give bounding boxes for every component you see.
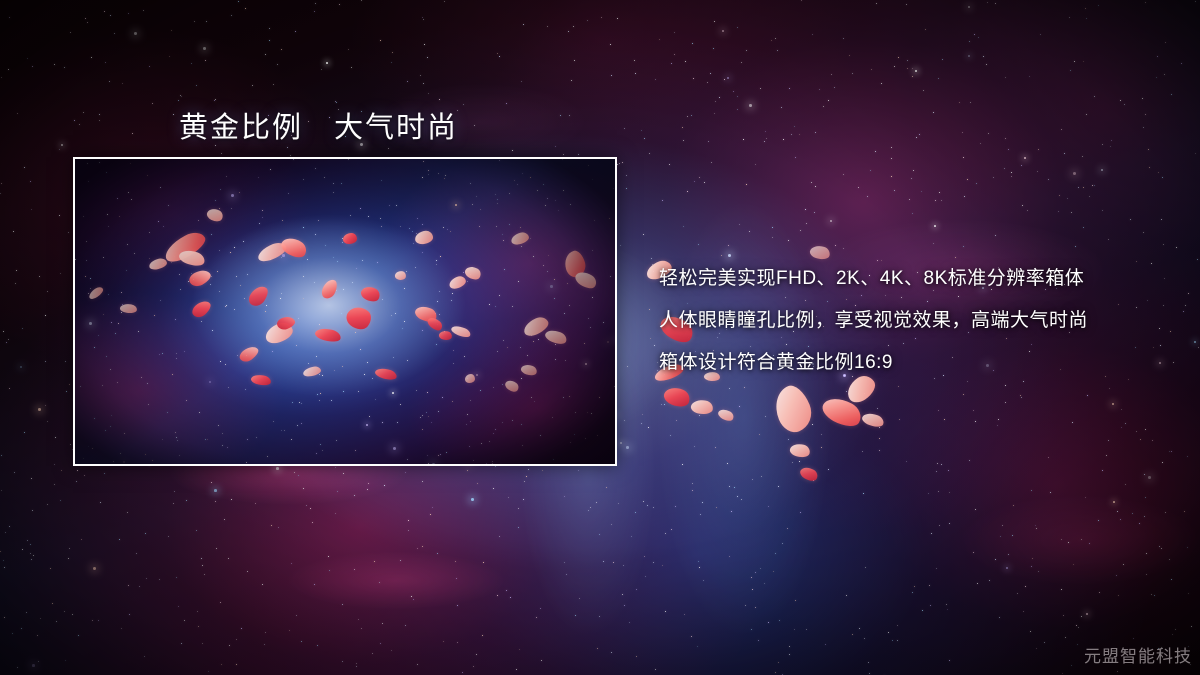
star bbox=[1161, 219, 1162, 220]
star bbox=[417, 548, 418, 549]
star bbox=[722, 30, 724, 32]
star bbox=[564, 562, 565, 563]
star bbox=[127, 512, 128, 513]
star bbox=[1120, 519, 1121, 520]
star bbox=[749, 231, 750, 232]
star bbox=[296, 615, 297, 616]
star bbox=[752, 589, 753, 590]
star bbox=[476, 374, 478, 376]
star bbox=[1132, 513, 1133, 514]
star bbox=[455, 204, 457, 206]
star bbox=[220, 189, 221, 190]
feature-line-2: 人体眼睛瞳孔比例，享受视觉效果，高端大气时尚 bbox=[659, 300, 1179, 342]
star bbox=[493, 387, 494, 388]
star bbox=[107, 214, 108, 215]
star bbox=[499, 536, 500, 537]
flower-petal bbox=[187, 267, 213, 290]
star bbox=[428, 416, 429, 417]
star bbox=[591, 413, 592, 414]
star bbox=[1140, 439, 1141, 440]
star bbox=[516, 669, 517, 670]
star bbox=[729, 486, 730, 487]
star bbox=[1144, 474, 1145, 475]
star bbox=[331, 400, 332, 401]
star bbox=[692, 43, 693, 44]
star bbox=[618, 503, 619, 504]
star bbox=[898, 57, 899, 58]
star bbox=[361, 0, 362, 1]
star bbox=[657, 362, 658, 363]
star bbox=[823, 106, 824, 107]
star bbox=[354, 569, 355, 570]
star bbox=[467, 281, 468, 282]
star bbox=[729, 388, 730, 389]
star bbox=[408, 520, 409, 521]
star bbox=[201, 321, 202, 322]
star bbox=[372, 378, 373, 379]
star bbox=[553, 459, 554, 460]
star bbox=[894, 190, 895, 191]
star bbox=[191, 273, 192, 274]
flower-petal bbox=[798, 464, 820, 483]
star bbox=[906, 461, 907, 462]
star bbox=[303, 298, 304, 299]
star bbox=[446, 452, 447, 453]
star bbox=[778, 486, 779, 487]
star bbox=[1162, 177, 1163, 178]
star bbox=[789, 646, 790, 647]
star bbox=[244, 298, 245, 299]
star bbox=[821, 447, 822, 448]
star bbox=[285, 246, 286, 247]
star bbox=[671, 529, 672, 530]
star bbox=[714, 21, 715, 22]
star bbox=[1089, 543, 1090, 544]
star bbox=[1094, 185, 1095, 186]
star bbox=[925, 29, 926, 30]
star bbox=[1194, 341, 1196, 343]
star bbox=[934, 225, 936, 227]
star bbox=[262, 584, 263, 585]
star bbox=[352, 282, 353, 283]
star bbox=[345, 241, 346, 242]
star bbox=[801, 0, 802, 1]
star bbox=[707, 82, 708, 83]
star bbox=[351, 67, 352, 68]
star bbox=[471, 498, 474, 501]
star bbox=[201, 558, 202, 559]
star bbox=[1108, 239, 1109, 240]
star bbox=[963, 246, 964, 247]
star bbox=[913, 170, 914, 171]
star bbox=[894, 66, 895, 67]
star bbox=[457, 605, 458, 606]
star bbox=[315, 3, 316, 4]
star bbox=[692, 490, 693, 491]
star bbox=[469, 446, 470, 447]
star bbox=[911, 178, 912, 179]
star bbox=[26, 612, 27, 613]
star bbox=[912, 76, 913, 77]
star bbox=[936, 471, 937, 472]
star bbox=[912, 592, 913, 593]
star bbox=[284, 430, 285, 431]
flower-petal bbox=[343, 302, 375, 334]
star bbox=[1094, 96, 1095, 97]
flower-petal bbox=[148, 257, 168, 271]
star bbox=[1117, 671, 1118, 672]
star bbox=[174, 491, 175, 492]
flower-petal bbox=[278, 234, 309, 262]
star bbox=[489, 304, 490, 305]
star bbox=[692, 483, 693, 484]
star bbox=[168, 205, 169, 206]
star bbox=[342, 238, 343, 239]
star bbox=[499, 160, 500, 161]
star bbox=[520, 347, 521, 348]
star bbox=[247, 571, 248, 572]
star bbox=[391, 62, 392, 63]
star bbox=[333, 183, 334, 184]
star bbox=[1040, 34, 1041, 35]
flower-petal bbox=[662, 384, 693, 410]
star bbox=[320, 393, 321, 394]
star bbox=[293, 159, 294, 160]
star bbox=[38, 661, 39, 662]
star bbox=[567, 283, 568, 284]
star bbox=[995, 559, 996, 560]
star bbox=[993, 177, 994, 178]
star bbox=[1133, 638, 1134, 639]
star bbox=[969, 460, 970, 461]
star bbox=[662, 200, 663, 201]
star bbox=[104, 11, 105, 12]
star bbox=[417, 664, 418, 665]
star bbox=[496, 226, 497, 227]
star bbox=[1106, 455, 1107, 456]
star bbox=[68, 232, 69, 233]
star bbox=[147, 175, 148, 176]
star bbox=[9, 526, 10, 527]
star bbox=[479, 226, 480, 227]
star bbox=[4, 567, 5, 568]
star bbox=[453, 363, 454, 364]
star bbox=[1171, 579, 1172, 580]
star bbox=[530, 238, 531, 239]
flower-petal bbox=[263, 320, 295, 346]
star bbox=[238, 1, 239, 2]
star bbox=[127, 244, 128, 245]
star bbox=[310, 508, 311, 509]
star bbox=[5, 532, 6, 533]
star bbox=[176, 577, 177, 578]
star bbox=[814, 212, 815, 213]
star bbox=[194, 21, 195, 22]
star bbox=[215, 200, 216, 201]
star bbox=[374, 561, 375, 562]
star bbox=[391, 650, 392, 651]
star bbox=[795, 600, 796, 601]
star bbox=[899, 419, 900, 420]
star bbox=[128, 13, 129, 14]
star bbox=[771, 40, 772, 41]
star bbox=[106, 356, 107, 357]
star bbox=[1183, 311, 1184, 312]
star bbox=[171, 30, 172, 31]
star bbox=[1021, 397, 1022, 398]
star bbox=[9, 388, 10, 389]
star bbox=[179, 455, 180, 456]
star bbox=[122, 83, 123, 84]
star bbox=[980, 143, 981, 144]
star bbox=[1145, 497, 1146, 498]
star bbox=[424, 44, 425, 45]
flower-petal bbox=[690, 398, 714, 416]
star bbox=[702, 502, 703, 503]
star bbox=[665, 611, 666, 612]
star bbox=[587, 412, 588, 413]
star bbox=[815, 186, 816, 187]
flower-petal bbox=[359, 284, 382, 305]
star bbox=[100, 502, 101, 503]
star bbox=[430, 514, 431, 515]
star bbox=[219, 250, 220, 251]
star bbox=[968, 6, 970, 8]
star bbox=[236, 664, 237, 665]
star bbox=[409, 228, 410, 229]
star bbox=[262, 217, 263, 218]
star bbox=[815, 132, 816, 133]
star bbox=[654, 345, 655, 346]
star bbox=[342, 366, 343, 367]
star bbox=[1111, 140, 1112, 141]
star bbox=[267, 456, 268, 457]
star bbox=[193, 279, 194, 280]
star bbox=[588, 165, 589, 166]
watermark-label: 元盟智能科技 bbox=[1084, 642, 1192, 667]
star bbox=[160, 187, 161, 188]
star bbox=[973, 410, 974, 411]
star bbox=[584, 343, 585, 344]
star bbox=[428, 170, 429, 171]
star bbox=[1063, 615, 1064, 616]
star bbox=[321, 69, 322, 70]
presentation-slide: 黄金比例 大气时尚 轻松完美实现FHD、2K、4K、8K标准分辨率箱体 人体眼睛… bbox=[0, 0, 1200, 675]
star bbox=[761, 476, 762, 477]
star bbox=[122, 304, 123, 305]
star bbox=[172, 374, 173, 375]
star bbox=[111, 415, 112, 416]
star bbox=[978, 37, 979, 38]
star bbox=[375, 399, 376, 400]
star bbox=[492, 463, 493, 464]
star bbox=[152, 460, 153, 461]
star bbox=[241, 628, 242, 629]
star bbox=[570, 204, 571, 205]
star bbox=[88, 293, 89, 294]
star bbox=[569, 396, 570, 397]
star bbox=[715, 447, 716, 448]
star bbox=[700, 514, 701, 515]
page-title: 黄金比例 大气时尚 bbox=[179, 104, 458, 146]
star bbox=[89, 322, 92, 325]
star bbox=[447, 229, 448, 230]
flower-petal bbox=[717, 407, 736, 423]
star bbox=[342, 661, 343, 662]
star bbox=[407, 81, 408, 82]
star bbox=[336, 290, 337, 291]
star bbox=[907, 60, 908, 61]
star bbox=[1, 183, 2, 184]
star bbox=[364, 374, 365, 375]
star bbox=[428, 174, 429, 175]
star bbox=[554, 298, 555, 299]
star bbox=[846, 595, 847, 596]
star bbox=[942, 59, 943, 60]
star bbox=[562, 159, 563, 160]
star bbox=[509, 193, 510, 194]
star bbox=[392, 52, 393, 53]
star bbox=[456, 578, 457, 579]
star bbox=[77, 470, 78, 471]
star bbox=[1169, 451, 1170, 452]
star bbox=[316, 453, 317, 454]
star bbox=[422, 177, 423, 178]
star bbox=[99, 162, 100, 163]
star bbox=[765, 131, 766, 132]
star bbox=[1146, 553, 1147, 554]
star bbox=[443, 227, 444, 228]
star bbox=[778, 662, 779, 663]
star bbox=[98, 620, 99, 621]
star bbox=[472, 267, 473, 268]
star bbox=[659, 39, 660, 40]
star bbox=[402, 328, 403, 329]
star bbox=[412, 231, 413, 232]
star bbox=[1157, 56, 1158, 57]
star bbox=[119, 539, 120, 540]
star bbox=[619, 163, 620, 164]
star bbox=[1036, 648, 1037, 649]
star bbox=[1102, 144, 1103, 145]
star bbox=[1068, 542, 1069, 543]
star bbox=[203, 47, 206, 50]
star bbox=[907, 68, 908, 69]
star bbox=[481, 443, 482, 444]
star bbox=[687, 191, 688, 192]
star bbox=[318, 220, 319, 221]
star bbox=[265, 632, 266, 633]
star bbox=[636, 656, 637, 657]
star bbox=[931, 533, 932, 534]
star bbox=[502, 422, 503, 423]
star bbox=[1081, 616, 1082, 617]
star bbox=[380, 40, 381, 41]
star bbox=[382, 299, 383, 300]
star bbox=[292, 402, 293, 403]
star bbox=[831, 74, 832, 75]
picture-vignette bbox=[75, 159, 615, 464]
star bbox=[975, 421, 976, 422]
star bbox=[237, 355, 238, 356]
flower-petal bbox=[320, 277, 340, 300]
product-image-frame bbox=[73, 157, 617, 466]
star bbox=[891, 158, 892, 159]
star bbox=[959, 102, 960, 103]
star bbox=[1148, 476, 1151, 479]
star bbox=[281, 257, 282, 258]
star bbox=[675, 506, 676, 507]
star bbox=[664, 404, 665, 405]
flower-petal bbox=[544, 327, 569, 346]
star bbox=[436, 344, 437, 345]
star bbox=[1, 455, 2, 456]
star bbox=[891, 147, 892, 148]
star bbox=[308, 363, 309, 364]
star bbox=[694, 446, 695, 447]
star bbox=[1123, 564, 1124, 565]
star bbox=[178, 606, 179, 607]
star bbox=[1071, 212, 1072, 213]
star bbox=[215, 99, 216, 100]
star bbox=[1171, 94, 1172, 95]
star bbox=[231, 194, 234, 197]
star bbox=[1195, 1, 1196, 2]
star bbox=[642, 414, 643, 415]
star bbox=[222, 445, 223, 446]
star bbox=[1181, 63, 1182, 64]
star bbox=[92, 620, 93, 621]
star bbox=[1142, 98, 1143, 99]
star bbox=[657, 370, 658, 371]
star bbox=[973, 552, 974, 553]
star bbox=[467, 378, 468, 379]
star bbox=[967, 179, 968, 180]
star bbox=[258, 177, 259, 178]
star bbox=[986, 64, 987, 65]
star bbox=[162, 353, 163, 354]
star bbox=[1163, 244, 1164, 245]
star bbox=[508, 497, 509, 498]
star bbox=[79, 124, 80, 125]
star bbox=[941, 464, 942, 465]
star bbox=[259, 223, 260, 224]
star bbox=[69, 548, 70, 549]
star bbox=[755, 607, 756, 608]
flower-petal bbox=[438, 330, 453, 342]
star bbox=[721, 255, 722, 256]
star bbox=[332, 337, 333, 338]
star bbox=[334, 370, 335, 371]
star bbox=[550, 285, 553, 288]
flower-petal bbox=[819, 392, 866, 432]
star bbox=[697, 646, 698, 647]
star bbox=[624, 420, 625, 421]
star bbox=[294, 472, 295, 473]
star bbox=[1006, 567, 1008, 569]
star bbox=[495, 429, 496, 430]
star bbox=[737, 27, 738, 28]
star bbox=[68, 558, 69, 559]
star bbox=[227, 447, 228, 448]
star bbox=[731, 511, 732, 512]
star bbox=[148, 404, 149, 405]
star bbox=[364, 288, 365, 289]
star bbox=[949, 492, 950, 493]
star bbox=[173, 114, 174, 115]
star bbox=[22, 549, 23, 550]
star bbox=[136, 553, 137, 554]
